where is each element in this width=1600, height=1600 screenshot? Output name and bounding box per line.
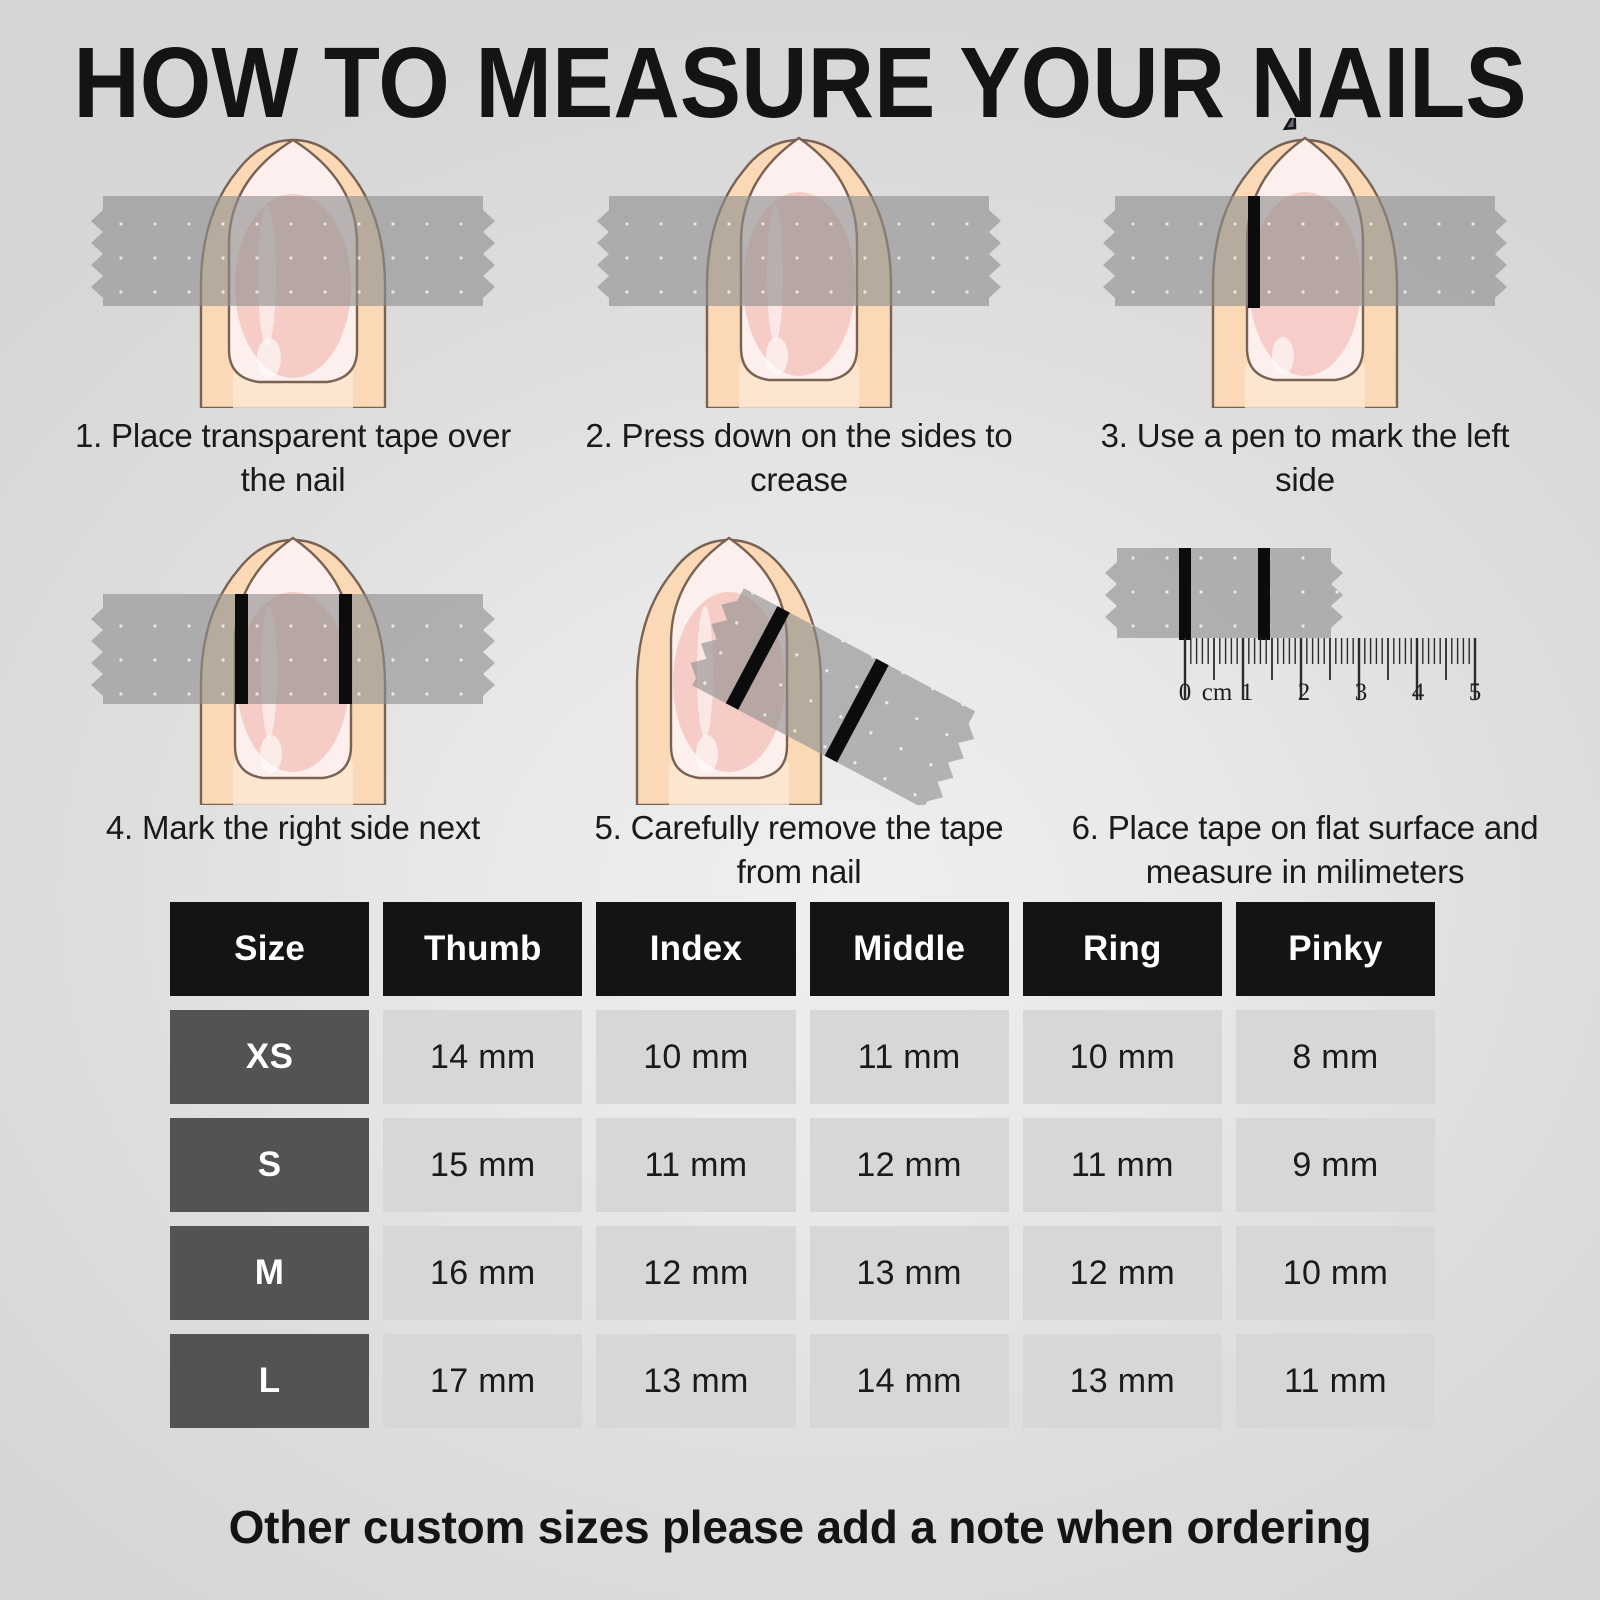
step-6-caption: 6. Place tape on flat surface and measur… (1070, 806, 1540, 894)
left-mark (235, 594, 248, 704)
size-label-m: M (170, 1226, 369, 1320)
step-3-caption: 3. Use a pen to mark the left side (1070, 414, 1540, 502)
step-5-caption: 5. Carefully remove the tape from nail (564, 806, 1034, 894)
step-1-illustration (83, 118, 503, 408)
size-label-xs: XS (170, 1010, 369, 1104)
size-chart-table: Size Thumb Index Middle Ring Pinky XS 14… (170, 902, 1435, 1442)
ruler-tick-5: 5 (1469, 679, 1482, 706)
step-4: 4. Mark the right side next (40, 520, 546, 894)
cell-s-middle: 12 mm (810, 1118, 1009, 1212)
cell-s-index: 11 mm (596, 1118, 795, 1212)
left-mark (1248, 196, 1260, 308)
table-header-pinky: Pinky (1236, 902, 1435, 996)
tape-strip (597, 196, 1001, 306)
finger-creased-tape-graphic (589, 118, 1009, 408)
steps-row-1: 1. Place transparent tape over the nail (40, 118, 1560, 502)
step-1: 1. Place transparent tape over the nail (40, 118, 546, 502)
ruler-tick-1: 1 (1241, 679, 1254, 706)
pen-icon (1269, 118, 1484, 142)
tape-strip (91, 594, 495, 704)
step-2: 2. Press down on the sides to crease (546, 118, 1052, 502)
cell-l-middle: 14 mm (810, 1334, 1009, 1428)
cell-xs-thumb: 14 mm (383, 1010, 582, 1104)
table-header-index: Index (596, 902, 795, 996)
ruler-labels: 0 cm 1 2 3 4 5 (1179, 679, 1482, 706)
infographic-page: HOW TO MEASURE YOUR NAILS (0, 0, 1600, 1600)
cell-l-thumb: 17 mm (383, 1334, 582, 1428)
step-5: 5. Carefully remove the tape from nail (546, 520, 1052, 894)
step-2-caption: 2. Press down on the sides to crease (564, 414, 1034, 502)
tape-on-ruler-graphic: 0 cm 1 2 3 4 5 (1095, 520, 1515, 780)
finger-pen-mark-graphic (1095, 118, 1515, 408)
size-label-s: S (170, 1118, 369, 1212)
cell-s-ring: 11 mm (1023, 1118, 1222, 1212)
size-label-l: L (170, 1334, 369, 1428)
cell-s-pinky: 9 mm (1236, 1118, 1435, 1212)
cell-l-index: 13 mm (596, 1334, 795, 1428)
cell-m-pinky: 10 mm (1236, 1226, 1435, 1320)
cell-xs-ring: 10 mm (1023, 1010, 1222, 1104)
step-5-illustration (589, 520, 1009, 800)
ruler-tick-2: 2 (1298, 679, 1311, 706)
step-4-caption: 4. Mark the right side next (58, 806, 528, 850)
step-6: 0 cm 1 2 3 4 5 6. Place tape on flat sur… (1052, 520, 1558, 894)
table-header-ring: Ring (1023, 902, 1222, 996)
ruler-tick-0: 0 (1179, 679, 1192, 706)
ruler-tick-3: 3 (1355, 679, 1368, 706)
tape-strip (1103, 196, 1507, 306)
cell-l-pinky: 11 mm (1236, 1334, 1435, 1428)
table-row: XS 14 mm 10 mm 11 mm 10 mm 8 mm (170, 1010, 1435, 1104)
table-header-thumb: Thumb (383, 902, 582, 996)
finger-tape-removed-graphic (589, 520, 1009, 805)
step-3-illustration (1095, 118, 1515, 408)
step-1-caption: 1. Place transparent tape over the nail (58, 414, 528, 502)
table-row: M 16 mm 12 mm 13 mm 12 mm 10 mm (170, 1226, 1435, 1320)
table-row: L 17 mm 13 mm 14 mm 13 mm 11 mm (170, 1334, 1435, 1428)
cell-m-index: 12 mm (596, 1226, 795, 1320)
cell-m-thumb: 16 mm (383, 1226, 582, 1320)
left-mark (1179, 548, 1191, 640)
finger-two-marks-graphic (83, 520, 503, 805)
cell-l-ring: 13 mm (1023, 1334, 1222, 1428)
table-header-middle: Middle (810, 902, 1009, 996)
step-3: 3. Use a pen to mark the left side (1052, 118, 1558, 502)
steps-row-2: 4. Mark the right side next (40, 520, 1560, 894)
cell-m-ring: 12 mm (1023, 1226, 1222, 1320)
tape-strip (1105, 548, 1343, 638)
footer-note: Other custom sizes please add a note whe… (0, 1500, 1600, 1554)
right-mark (1258, 548, 1270, 640)
finger-with-tape-graphic (83, 118, 503, 408)
steps-section: 1. Place transparent tape over the nail (40, 118, 1560, 894)
step-6-illustration: 0 cm 1 2 3 4 5 (1095, 520, 1515, 800)
cell-m-middle: 13 mm (810, 1226, 1009, 1320)
right-mark (339, 594, 352, 704)
tape-strip (91, 196, 495, 306)
cell-s-thumb: 15 mm (383, 1118, 582, 1212)
ruler-tick-4: 4 (1412, 679, 1425, 706)
cell-xs-pinky: 8 mm (1236, 1010, 1435, 1104)
step-2-illustration (589, 118, 1009, 408)
cell-xs-index: 10 mm (596, 1010, 795, 1104)
cell-xs-middle: 11 mm (810, 1010, 1009, 1104)
table-header-size: Size (170, 902, 369, 996)
table-row: S 15 mm 11 mm 12 mm 11 mm 9 mm (170, 1118, 1435, 1212)
ruler-unit-label: cm (1202, 679, 1233, 706)
table-header-row: Size Thumb Index Middle Ring Pinky (170, 902, 1435, 996)
step-4-illustration (83, 520, 503, 800)
